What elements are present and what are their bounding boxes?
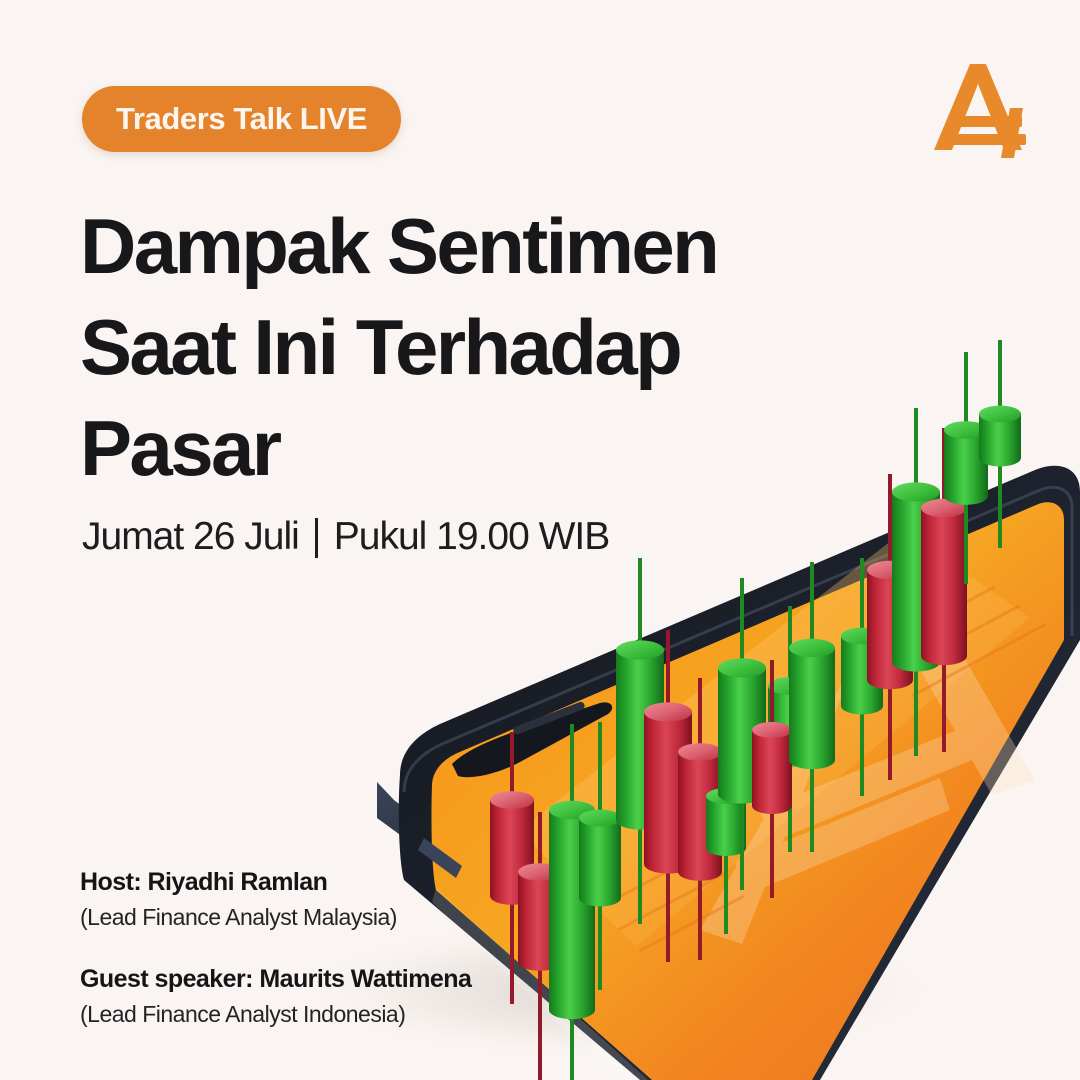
candlestick-8 [706, 736, 746, 934]
candle-top-cap [867, 561, 913, 579]
candlestick-7 [678, 678, 722, 960]
speaker-guest: Guest speaker: Maurits Wattimena (Lead F… [80, 963, 471, 1030]
event-date: Jumat 26 Juli [82, 515, 299, 559]
candle-top-cap [549, 801, 595, 819]
candle-body [841, 636, 883, 714]
candle-top-cap [841, 628, 883, 645]
candle-top-cap [616, 640, 664, 659]
live-badge-label: Traders Talk LIVE [116, 101, 367, 137]
candle-top-cap [892, 482, 940, 501]
candle-body [921, 508, 967, 665]
candlestick-2 [518, 812, 562, 1080]
guest-role: (Lead Finance Analyst Indonesia) [80, 998, 471, 1030]
host-role: (Lead Finance Analyst Malaysia) [80, 901, 471, 933]
candle-body [706, 796, 746, 856]
candlestick-4 [579, 722, 621, 990]
title-line-1: Dampak Sentimen [80, 196, 800, 297]
live-badge: Traders Talk LIVE [82, 86, 401, 152]
datetime-separator [315, 518, 318, 558]
candle-top-cap [706, 788, 746, 804]
candle-body [892, 492, 940, 672]
event-time: Pukul 19.00 WIB [334, 515, 609, 559]
candlestick-14 [867, 474, 913, 780]
phone-screen [431, 502, 1064, 1080]
candle-body [944, 430, 988, 505]
screen-light-beam [430, 530, 1030, 1010]
candle-body [579, 818, 621, 906]
candlestick-16 [921, 428, 967, 752]
candle-top-cap [718, 658, 766, 677]
poster-canvas: Traders Talk LIVE Dampak Sentimen Saat I… [0, 0, 1080, 1080]
candle-top-cap [518, 863, 562, 881]
logo-a-mark-icon [926, 58, 1038, 164]
candle-top-cap [490, 791, 534, 809]
brand-logo [926, 58, 1038, 164]
candle-top-cap [644, 702, 692, 721]
candlestick-18 [979, 340, 1021, 548]
candle-top-cap [752, 722, 792, 738]
candlestick-3 [549, 724, 595, 1080]
candlestick-10 [768, 606, 812, 852]
candle-body [616, 650, 664, 830]
candle-top-cap [678, 743, 722, 761]
candlestick-13 [841, 558, 883, 796]
candlestick-17 [944, 352, 988, 584]
phone-notch [452, 702, 612, 777]
speaker-list: Host: Riyadhi Ramlan (Lead Finance Analy… [80, 866, 471, 1030]
candle-top-cap [979, 406, 1021, 423]
candle-body [752, 730, 792, 814]
event-datetime: Jumat 26 Juli Pukul 19.00 WIB [82, 515, 609, 559]
speaker-host: Host: Riyadhi Ramlan (Lead Finance Analy… [80, 866, 471, 933]
host-name: Host: Riyadhi Ramlan [80, 866, 471, 899]
guest-name: Guest speaker: Maurits Wattimena [80, 963, 471, 996]
title-line-2: Saat Ini Terhadap [80, 297, 800, 398]
candle-body [867, 570, 913, 689]
candle-top-cap [789, 639, 835, 657]
candlestick-12 [789, 562, 835, 852]
candlestick-15 [892, 408, 940, 756]
candle-body [789, 648, 835, 769]
candlestick-1 [490, 732, 534, 1004]
candle-body [644, 712, 692, 874]
title-line-3: Pasar [80, 398, 800, 499]
screen-content [430, 530, 1046, 1010]
page-title: Dampak Sentimen Saat Ini Terhadap Pasar [80, 196, 800, 499]
earpiece-speaker-icon [512, 701, 586, 736]
candle-top-cap [921, 499, 967, 517]
candle-body [549, 810, 595, 1019]
candle-body [768, 686, 812, 767]
candle-body [979, 414, 1021, 466]
candle-body [490, 800, 534, 905]
candle-top-cap [579, 810, 621, 827]
screen-watermark-a-icon [700, 585, 1035, 944]
candle-body [518, 872, 562, 971]
candle-top-cap [944, 421, 988, 439]
candle-body [718, 668, 766, 804]
candlestick-9 [718, 578, 766, 890]
candle-body [678, 752, 722, 881]
candlestick-6 [644, 630, 692, 962]
candlestick-11 [752, 660, 792, 898]
screen-speed-lines [560, 576, 1046, 976]
candlestick-5 [616, 558, 664, 924]
candle-top-cap [768, 677, 812, 695]
